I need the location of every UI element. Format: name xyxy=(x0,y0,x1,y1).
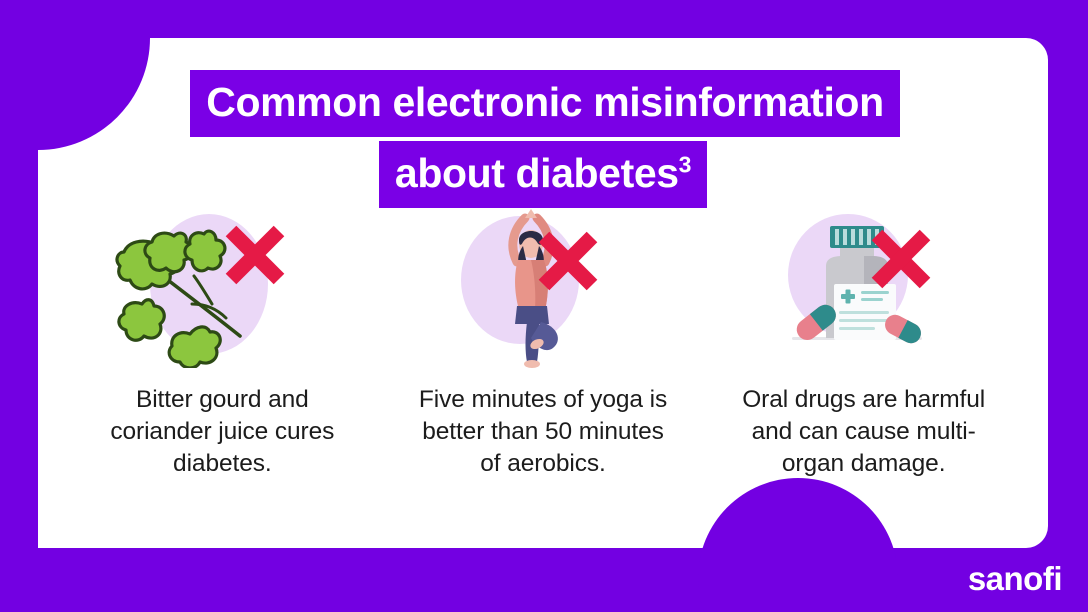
red-x-icon xyxy=(220,220,290,290)
column-oral-drugs: Oral drugs are harmful and can cause mul… xyxy=(703,206,1024,480)
caption-yoga: Five minutes of yoga is better than 50 m… xyxy=(418,384,668,480)
title-line-1: Common electronic misinformation xyxy=(190,70,899,137)
illustration-pill-bottle xyxy=(744,206,984,368)
red-x-icon xyxy=(866,224,936,294)
title-block: Common electronic misinformation about d… xyxy=(38,70,1048,208)
title-line-2-text: about diabetes xyxy=(395,150,679,196)
caption-oral-drugs: Oral drugs are harmful and can cause mul… xyxy=(739,384,989,480)
white-content-card: Common electronic misinformation about d… xyxy=(38,38,1048,548)
misinformation-columns: Bitter gourd and coriander juice cures d… xyxy=(62,206,1024,480)
illustration-coriander xyxy=(102,206,342,368)
title-superscript: 3 xyxy=(679,151,691,177)
sanofi-logo: sanofi xyxy=(968,560,1062,598)
infographic-slide: Common electronic misinformation about d… xyxy=(0,0,1088,612)
column-coriander: Bitter gourd and coriander juice cures d… xyxy=(62,206,383,480)
column-yoga: Five minutes of yoga is better than 50 m… xyxy=(383,206,704,480)
caption-coriander: Bitter gourd and coriander juice cures d… xyxy=(97,384,347,480)
red-x-icon xyxy=(533,226,603,296)
corner-notch-bottom xyxy=(698,478,898,612)
title-line-2: about diabetes3 xyxy=(379,141,707,208)
illustration-yoga xyxy=(423,206,663,368)
